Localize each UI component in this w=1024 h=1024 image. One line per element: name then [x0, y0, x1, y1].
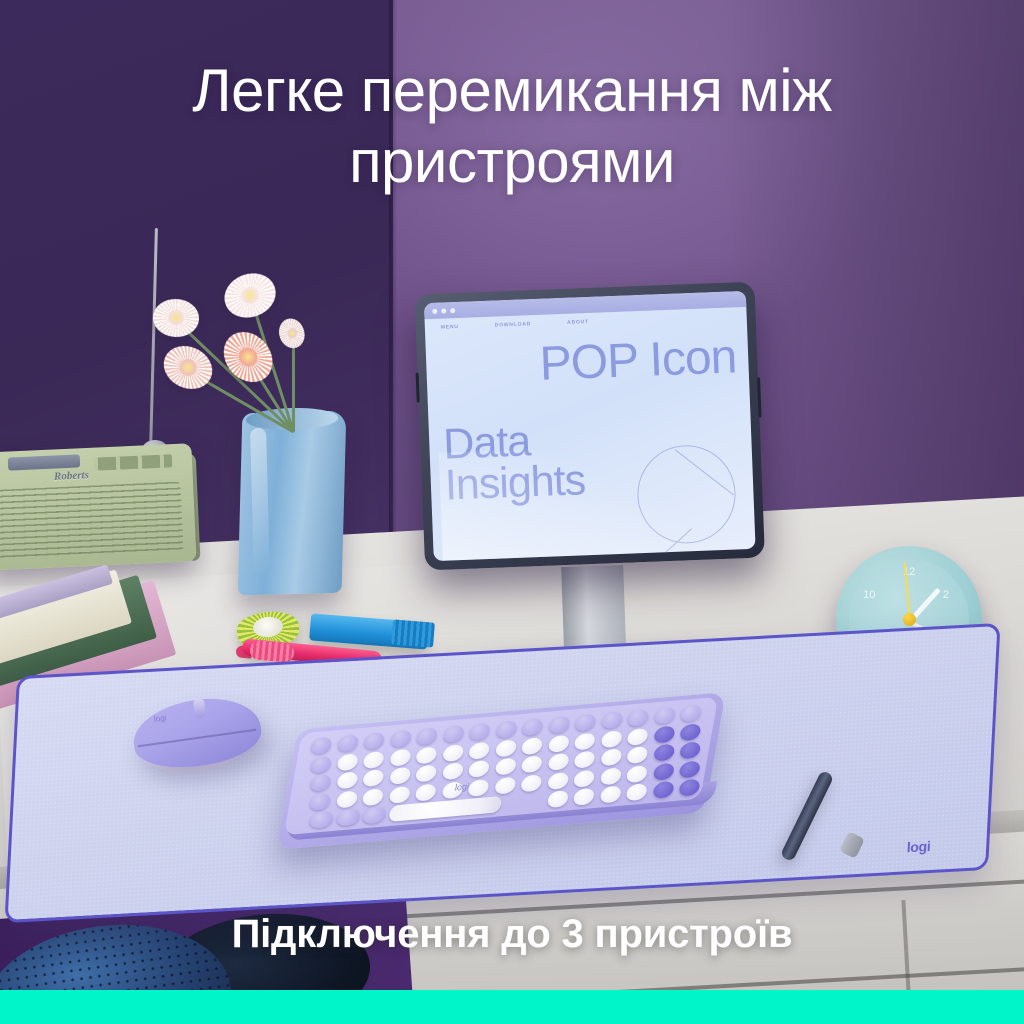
keycap[interactable] [494, 776, 517, 794]
keycap[interactable] [520, 755, 543, 773]
flower-stem [292, 336, 295, 432]
keycap[interactable] [441, 762, 464, 780]
keycap[interactable] [336, 753, 359, 771]
promo-banner: Roberts 12246810 MENU DOWNLOAD ABOUT [0, 0, 1024, 1024]
keyboard-logo: logi [454, 781, 470, 792]
keycap[interactable] [309, 792, 332, 810]
keycap[interactable] [415, 764, 438, 782]
headline: Легке перемикання між пристроями [0, 56, 1024, 198]
keycap[interactable] [309, 774, 332, 792]
window-maximize-dot[interactable] [450, 308, 455, 313]
headline-line-2: пристроями [0, 127, 1024, 198]
keycap[interactable] [415, 746, 438, 764]
desk-mat-logo: logi [906, 838, 930, 855]
keycap[interactable] [388, 767, 411, 785]
keycap[interactable] [546, 790, 569, 808]
clock-numeral-2: 2 [943, 589, 949, 601]
site-title: POP Icon [539, 329, 738, 392]
window-close-dot[interactable] [432, 309, 437, 314]
keycap[interactable] [653, 725, 676, 743]
keycap[interactable] [625, 783, 648, 801]
keycap[interactable] [679, 741, 702, 759]
keycap[interactable] [310, 736, 333, 754]
keycap[interactable] [678, 760, 701, 778]
keycap[interactable] [335, 790, 358, 808]
tablet-device: MENU DOWNLOAD ABOUT POP Icon Data Insigh… [415, 282, 766, 583]
keycap[interactable] [389, 730, 412, 748]
keycap[interactable] [414, 783, 437, 801]
keycap[interactable] [627, 709, 650, 727]
keycap[interactable] [574, 713, 597, 731]
accent-bottom-bar [0, 990, 1024, 1024]
keycap[interactable] [362, 750, 385, 768]
keycap[interactable] [600, 711, 623, 729]
clock-center-pin [903, 613, 916, 626]
keycap[interactable] [599, 767, 622, 785]
window-minimize-dot[interactable] [441, 308, 446, 313]
keycap[interactable] [308, 811, 334, 829]
keycap[interactable] [336, 734, 359, 752]
keycap[interactable] [388, 785, 411, 803]
keycap[interactable] [547, 734, 570, 752]
keycap[interactable] [495, 720, 518, 738]
radio-speaker-grille [0, 482, 183, 561]
keycap[interactable] [652, 762, 675, 780]
keycap[interactable] [626, 727, 649, 745]
keycap[interactable] [442, 725, 465, 743]
keycap[interactable] [679, 704, 702, 722]
keycap[interactable] [494, 758, 517, 776]
keycap[interactable] [520, 774, 543, 792]
keycap[interactable] [389, 748, 412, 766]
keycap[interactable] [573, 732, 596, 750]
keycap[interactable] [336, 771, 359, 789]
keycap[interactable] [652, 781, 675, 799]
keycap[interactable] [600, 730, 623, 748]
keycap[interactable] [494, 739, 517, 757]
mouse-logo: logi [153, 713, 167, 724]
tablet-screen[interactable]: MENU DOWNLOAD ABOUT POP Icon Data Insigh… [424, 291, 756, 561]
keycap[interactable] [467, 778, 490, 796]
keycap[interactable] [626, 765, 649, 783]
keycap[interactable] [362, 769, 385, 787]
keycap[interactable] [468, 741, 491, 759]
keycap[interactable] [626, 746, 649, 764]
keycap[interactable] [468, 760, 491, 778]
keycap[interactable] [679, 723, 702, 741]
nav-item-about[interactable]: ABOUT [567, 319, 589, 326]
keycap[interactable] [521, 718, 544, 736]
keycap[interactable] [572, 788, 595, 806]
keycap[interactable] [309, 755, 332, 773]
radio-brand-label: Roberts [54, 469, 89, 483]
keycap[interactable] [362, 788, 385, 806]
blue-marker-cap [391, 619, 435, 647]
keycap[interactable] [441, 744, 464, 762]
keycap[interactable] [546, 771, 569, 789]
keycap[interactable] [599, 785, 622, 803]
subheadline: Підключення до 3 пристроїв [0, 912, 1024, 957]
keycap[interactable] [652, 744, 675, 762]
site-heading: Data Insights [443, 419, 586, 506]
keycap[interactable] [361, 806, 387, 824]
keycap[interactable] [547, 716, 570, 734]
site-heading-line2: Insights [444, 460, 586, 506]
headline-line-1: Легке перемикання між [0, 56, 1024, 127]
keycap[interactable] [335, 808, 361, 826]
keycap[interactable] [468, 723, 491, 741]
clock-numeral-10: 10 [863, 589, 875, 601]
keycap[interactable] [521, 737, 544, 755]
keycap[interactable] [415, 727, 438, 745]
nav-item-download[interactable]: DOWNLOAD [495, 321, 532, 328]
keycap[interactable] [573, 769, 596, 787]
keycap[interactable] [653, 706, 676, 724]
nav-item-menu[interactable]: MENU [441, 324, 459, 331]
keycap[interactable] [599, 748, 622, 766]
keycap[interactable] [363, 732, 386, 750]
keycap[interactable] [547, 753, 570, 771]
keycap[interactable] [573, 751, 596, 769]
